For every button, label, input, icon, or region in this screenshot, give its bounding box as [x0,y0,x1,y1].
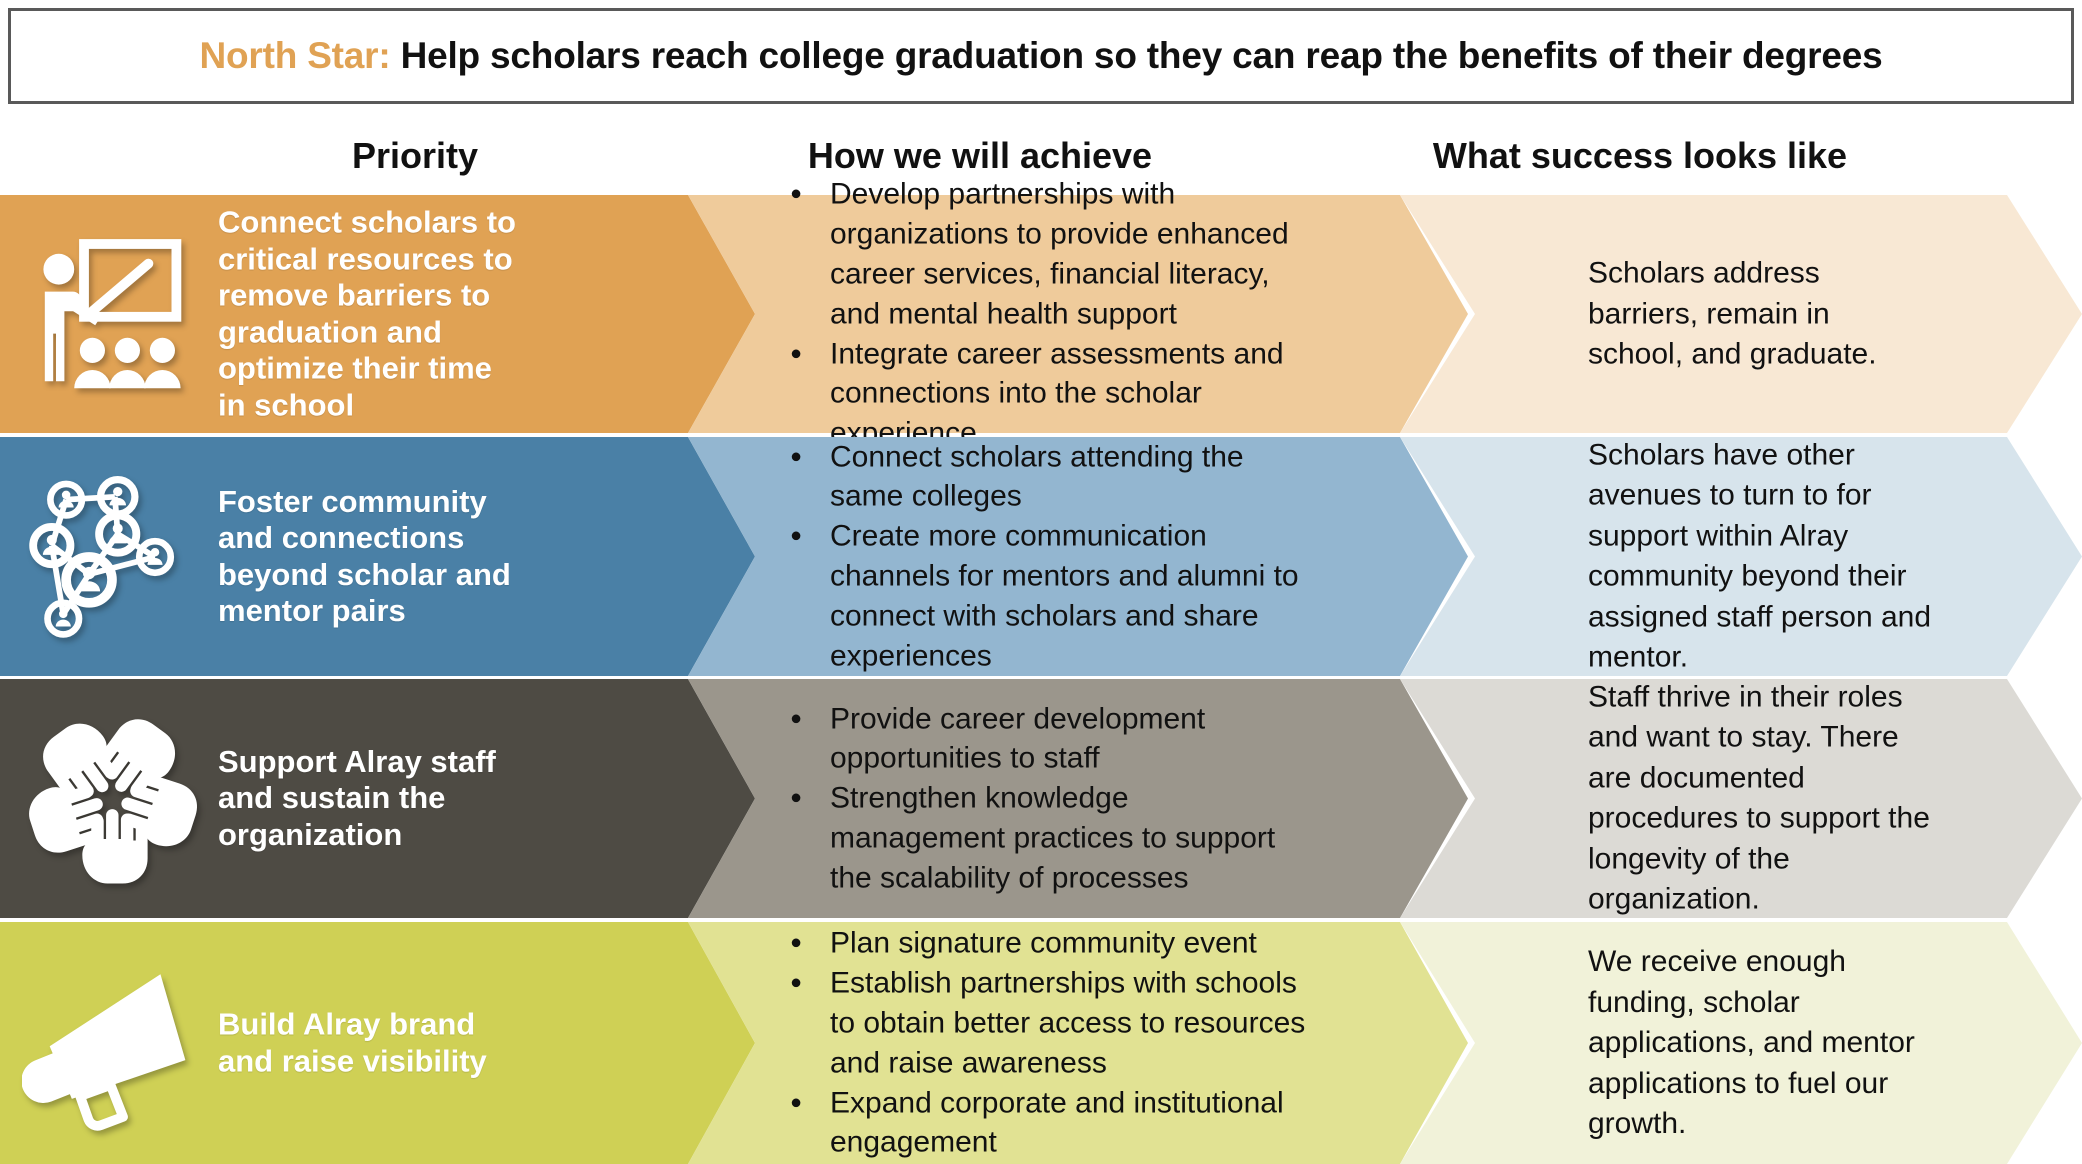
achieve-bullet-item: Expand corporate and institutional engag… [788,1083,1308,1163]
joined-hands-icon [22,709,202,889]
achieve-bullet-list: Develop partnerships with organizations … [788,174,1308,453]
what-success-looks-like-cell: Scholars address barriers, remain in sch… [1400,195,2082,433]
how-we-will-achieve-cell: Provide career development opportunities… [688,679,1468,918]
north-star-label: North Star: [199,35,400,76]
how-we-will-achieve-cell: Connect scholars attending the same coll… [688,437,1468,676]
priority-text: Connect scholars to critical resources t… [218,204,525,423]
success-text: Scholars address barriers, remain in sch… [1588,253,1932,375]
priority-cell: Support Alray staff and sustain the orga… [0,679,755,918]
megaphone-icon [22,953,202,1133]
achieve-bullet-item: Develop partnerships with organizations … [788,174,1308,334]
roadmap-row: Foster community and connections beyond … [0,437,2082,676]
achieve-bullet-item: Provide career development opportunities… [788,699,1308,779]
how-we-will-achieve-cell: Plan signature community eventEstablish … [688,922,1468,1164]
north-star-text: North Star: Help scholars reach college … [199,35,1882,77]
north-star-banner: North Star: Help scholars reach college … [8,8,2074,104]
achieve-bullet-item: Strengthen knowledge management practice… [788,779,1308,899]
achieve-bullet-item: Create more communication channels for m… [788,517,1308,677]
achieve-bullet-list: Plan signature community eventEstablish … [788,923,1308,1162]
what-success-looks-like-cell: Scholars have other avenues to turn to f… [1400,437,2082,676]
priority-text: Build Alray brand and raise visibility [218,1006,525,1079]
achieve-bullet-item: Connect scholars attending the same coll… [788,437,1308,517]
priority-text: Support Alray staff and sustain the orga… [218,744,525,854]
what-success-looks-like-cell: Staff thrive in their roles and want to … [1400,679,2082,918]
network-people-icon [22,467,202,647]
priority-cell: Foster community and connections beyond … [0,437,755,676]
achieve-bullet-item: Integrate career assessments and connect… [788,334,1308,454]
achieve-bullet-list: Connect scholars attending the same coll… [788,437,1308,676]
achieve-bullet-item: Plan signature community event [788,923,1308,963]
north-star-statement: Help scholars reach college graduation s… [401,35,1883,76]
column-header-what-success-looks-like: What success looks like [1330,135,1950,177]
roadmap-row: Support Alray staff and sustain the orga… [0,679,2082,918]
roadmap-row: Build Alray brand and raise visibilityPl… [0,922,2082,1164]
teacher-presentation-icon [22,224,202,404]
success-text: Scholars have other avenues to turn to f… [1588,435,1932,678]
priority-text: Foster community and connections beyond … [218,483,525,629]
priority-cell: Build Alray brand and raise visibility [0,922,755,1164]
what-success-looks-like-cell: We receive enough funding, scholar appli… [1400,922,2082,1164]
achieve-bullet-item: Establish partnerships with schools to o… [788,963,1308,1083]
success-text: Staff thrive in their roles and want to … [1588,677,1932,920]
success-text: We receive enough funding, scholar appli… [1588,942,1932,1145]
priority-cell: Connect scholars to critical resources t… [0,195,755,433]
column-header-how-we-will-achieve: How we will achieve [700,135,1260,177]
how-we-will-achieve-cell: Develop partnerships with organizations … [688,195,1468,433]
strategy-roadmap: North Star: Help scholars reach college … [0,0,2082,1164]
roadmap-row: Connect scholars to critical resources t… [0,195,2082,433]
achieve-bullet-list: Provide career development opportunities… [788,699,1308,898]
column-header-priority: Priority [215,135,615,177]
